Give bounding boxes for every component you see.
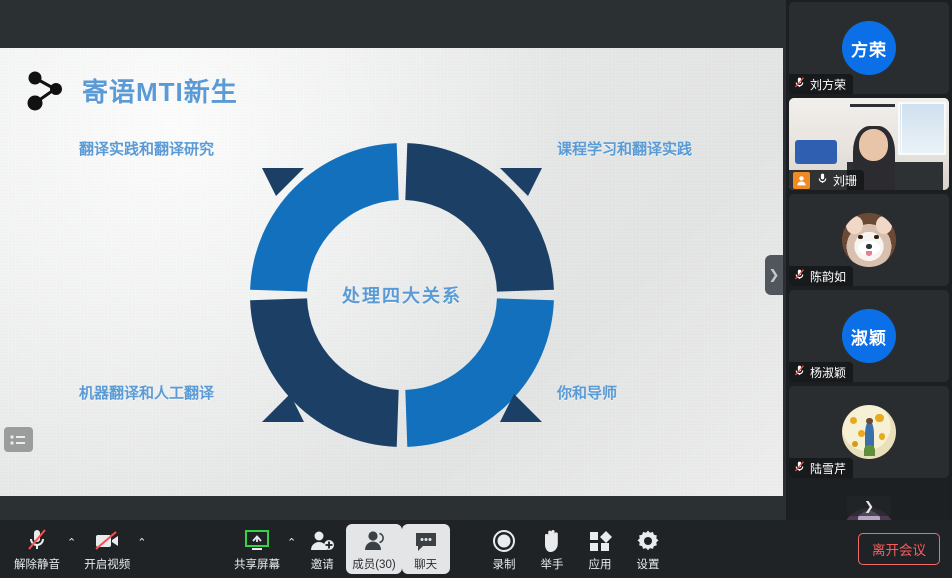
microphone-muted-icon bbox=[793, 364, 806, 380]
quadrant-label-bottom-left: 机器翻译和人工翻译 bbox=[79, 382, 214, 403]
toolbar-button-label: 设置 bbox=[637, 556, 660, 572]
node-graph-icon bbox=[22, 66, 68, 114]
toolbar-button-label: 应用 bbox=[589, 556, 612, 572]
host-badge-icon bbox=[793, 172, 810, 189]
participant-name: 陆雪芹 bbox=[810, 460, 846, 477]
quadrant-label-top-right: 课程学习和翻译实践 bbox=[557, 138, 692, 159]
presentation-slide: 寄语MTI新生 翻译实践和翻译研究 课程学习和翻译实践 机器翻译和人工翻译 你和… bbox=[0, 48, 783, 496]
toolbar-button-raise-hand[interactable]: 举手 bbox=[528, 524, 576, 574]
participant-nameplate: 陈韵如 bbox=[789, 266, 853, 286]
participant-tile[interactable]: 方荣 刘方荣 bbox=[789, 2, 949, 94]
gear-icon bbox=[636, 527, 660, 553]
chat-bubble-icon bbox=[414, 527, 438, 553]
apps-grid-icon bbox=[588, 527, 612, 553]
chevron-up-icon[interactable]: ⌃ bbox=[287, 536, 296, 549]
microphone-muted-icon bbox=[793, 460, 806, 476]
toolbar-button-label: 邀请 bbox=[311, 556, 334, 572]
rail-scroll-down-button[interactable]: ❯ bbox=[847, 496, 891, 516]
donut-segment bbox=[405, 143, 554, 292]
participant-name: 刘方荣 bbox=[810, 76, 846, 93]
share-screen-icon bbox=[244, 527, 270, 553]
avatar: 淑颖 bbox=[842, 309, 896, 363]
microphone-muted-icon bbox=[793, 268, 806, 284]
leave-meeting-label: 离开会议 bbox=[872, 539, 926, 559]
slide-title-block: 寄语MTI新生 bbox=[22, 66, 238, 114]
avatar-initials: 淑颖 bbox=[851, 324, 887, 349]
toolbar-button-label: 共享屏幕 bbox=[234, 556, 280, 572]
toolbar-button-label: 解除静音 bbox=[14, 556, 60, 572]
toolbar-button-apps-grid[interactable]: 应用 bbox=[576, 524, 624, 574]
participant-video-rail[interactable]: 方荣 刘方荣 刘珊 bbox=[786, 0, 952, 520]
toolbar-button-label: 举手 bbox=[541, 556, 564, 572]
toolbar-button-label: 录制 bbox=[493, 556, 516, 572]
avatar-initials: 方荣 bbox=[851, 36, 887, 61]
toolbar-button-record[interactable]: 录制 bbox=[480, 524, 528, 574]
chevron-up-icon[interactable]: ⌃ bbox=[137, 536, 146, 549]
donut-segment bbox=[250, 298, 399, 447]
invite-user-icon bbox=[309, 527, 335, 553]
participant-name: 刘珊 bbox=[833, 172, 857, 189]
toolbar-button-microphone-muted[interactable]: 解除静音 bbox=[8, 524, 66, 574]
participant-name: 陈韵如 bbox=[810, 268, 846, 285]
donut-segment bbox=[250, 143, 399, 292]
collapse-panel-handle[interactable]: ❯ bbox=[765, 255, 783, 295]
participant-name: 杨淑颖 bbox=[810, 364, 846, 381]
shared-screen-stage: 寄语MTI新生 翻译实践和翻译研究 课程学习和翻译实践 机器翻译和人工翻译 你和… bbox=[0, 0, 783, 520]
chevron-down-icon: ❯ bbox=[864, 499, 874, 513]
participant-nameplate: 刘珊 bbox=[789, 170, 864, 190]
toolbar-button-camera-off[interactable]: 开启视频 bbox=[78, 524, 136, 574]
toolbar-button-chat-bubble[interactable]: 聊天 bbox=[402, 524, 450, 574]
microphone-icon bbox=[816, 172, 829, 188]
participant-nameplate: 杨淑颖 bbox=[789, 362, 853, 382]
page-title: 寄语MTI新生 bbox=[82, 72, 238, 109]
raise-hand-icon bbox=[540, 527, 564, 553]
toolbar-button-share-screen[interactable]: 共享屏幕 bbox=[228, 524, 286, 574]
leave-meeting-button[interactable]: 离开会议 bbox=[858, 533, 940, 565]
microphone-muted-icon bbox=[793, 76, 806, 92]
participants-icon bbox=[361, 527, 387, 553]
chevron-right-icon: ❯ bbox=[769, 267, 780, 283]
chevron-up-icon[interactable]: ⌃ bbox=[67, 536, 76, 549]
toolbar-button-label: 聊天 bbox=[414, 556, 437, 572]
participant-tile[interactable]: 陆雪芹 bbox=[789, 386, 949, 478]
participant-tile[interactable]: 陈韵如 bbox=[789, 194, 949, 286]
participant-tile[interactable]: 刘珊 bbox=[789, 98, 949, 190]
list-menu-icon[interactable] bbox=[4, 427, 33, 452]
camera-off-icon bbox=[93, 527, 121, 553]
four-quadrant-donut-diagram: 处理四大关系 bbox=[232, 134, 572, 456]
participant-nameplate: 陆雪芹 bbox=[789, 458, 853, 478]
donut-segment bbox=[405, 298, 554, 447]
quadrant-label-top-left: 翻译实践和翻译研究 bbox=[79, 138, 214, 159]
toolbar-button-invite-user[interactable]: 邀请 bbox=[298, 524, 346, 574]
avatar: 方荣 bbox=[842, 21, 896, 75]
participant-tile[interactable]: 淑颖 杨淑颖 bbox=[789, 290, 949, 382]
toolbar-button-label: 成员(30) bbox=[352, 556, 395, 572]
participant-nameplate: 刘方荣 bbox=[789, 74, 853, 94]
toolbar-button-gear[interactable]: 设置 bbox=[624, 524, 672, 574]
meeting-toolbar: 解除静音⌃ 开启视频⌃ 共享屏幕⌃ 邀请 成员(30) 聊 bbox=[0, 520, 952, 578]
meeting-window: 寄语MTI新生 翻译实践和翻译研究 课程学习和翻译实践 机器翻译和人工翻译 你和… bbox=[0, 0, 952, 578]
toolbar-button-label: 开启视频 bbox=[84, 556, 130, 572]
record-icon bbox=[492, 527, 516, 553]
toolbar-button-participants[interactable]: 成员(30) bbox=[346, 524, 401, 574]
microphone-muted-icon bbox=[24, 527, 50, 553]
